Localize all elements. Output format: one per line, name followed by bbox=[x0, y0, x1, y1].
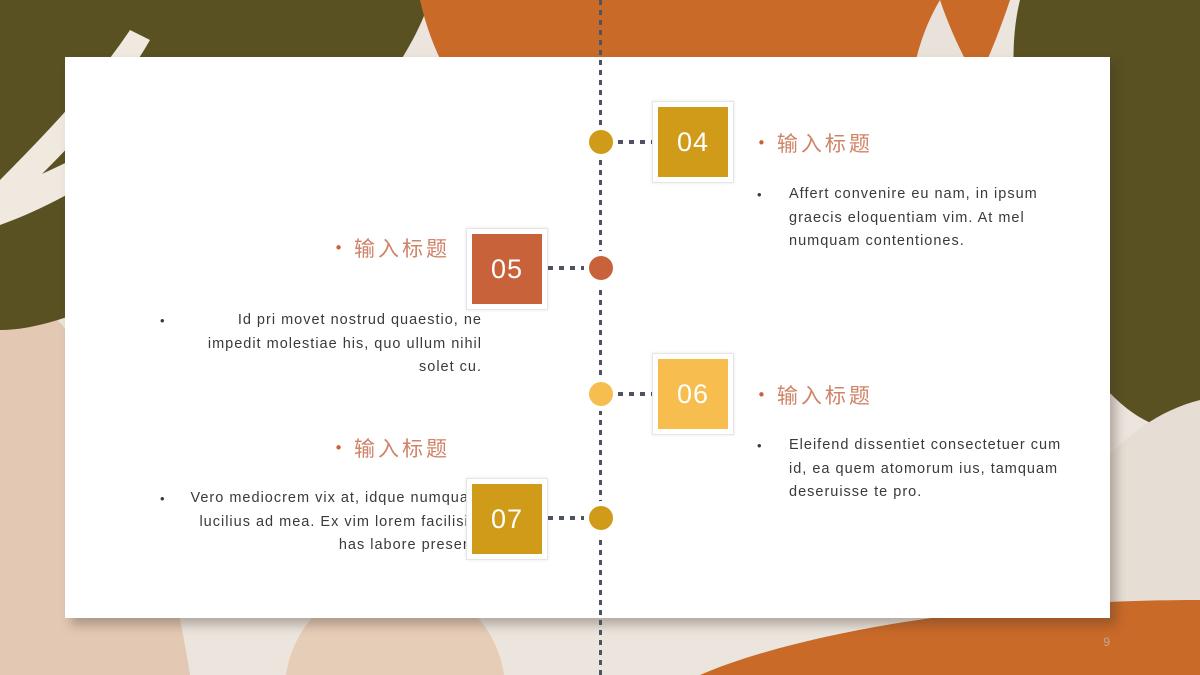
timeline-number-04: 04 bbox=[658, 107, 728, 177]
timeline-number-05: 05 bbox=[472, 234, 542, 304]
timeline-heading-text-04: 输入标题 bbox=[777, 132, 873, 156]
timeline-node-07[interactable] bbox=[584, 501, 618, 535]
body-bullet-icon-04: • bbox=[757, 183, 763, 207]
timeline-body-text-07: Vero mediocrem vix at, idque numquam luc… bbox=[190, 487, 482, 558]
timeline-node-dot-06 bbox=[589, 382, 613, 406]
timeline-heading-text-05: 输入标题 bbox=[354, 237, 450, 261]
heading-bullet-icon-04: • bbox=[757, 134, 769, 152]
body-bullet-icon-06: • bbox=[757, 434, 763, 458]
timeline-number-07: 07 bbox=[472, 484, 542, 554]
timeline-heading-06: •输入标题 bbox=[757, 380, 873, 410]
timeline-node-dot-04 bbox=[589, 130, 613, 154]
timeline-connector-04 bbox=[618, 140, 652, 144]
timeline-body-06: • Eleifend dissentiet consectetuer cum i… bbox=[757, 434, 1079, 505]
page-number: 9 bbox=[1103, 635, 1110, 649]
timeline-body-07: • Vero mediocrem vix at, idque numquam l… bbox=[160, 487, 482, 558]
timeline-heading-text-07: 输入标题 bbox=[354, 437, 450, 461]
timeline-number-box-05[interactable]: 05 bbox=[466, 228, 548, 310]
timeline-connector-07 bbox=[548, 516, 584, 520]
body-bullet-icon-05: • bbox=[160, 309, 166, 333]
presentation-slide: 04 •输入标题 • Affert convenire eu nam, in i… bbox=[0, 0, 1200, 675]
timeline-node-06[interactable] bbox=[584, 377, 618, 411]
timeline-heading-04: •输入标题 bbox=[757, 128, 873, 158]
timeline-node-04[interactable] bbox=[584, 125, 618, 159]
body-bullet-icon-07: • bbox=[160, 487, 166, 511]
timeline-connector-06 bbox=[618, 392, 652, 396]
heading-bullet-icon-05: • bbox=[334, 239, 346, 257]
timeline-node-dot-07 bbox=[589, 506, 613, 530]
timeline-heading-text-06: 输入标题 bbox=[777, 384, 873, 408]
timeline-body-text-04: Affert convenire eu nam, in ipsum graeci… bbox=[789, 183, 1089, 254]
timeline-connector-05 bbox=[548, 266, 584, 270]
timeline-number-06: 06 bbox=[658, 359, 728, 429]
timeline-body-04: • Affert convenire eu nam, in ipsum grae… bbox=[757, 183, 1089, 254]
timeline-number-box-04[interactable]: 04 bbox=[652, 101, 734, 183]
timeline-body-05: • Id pri movet nostrud quaestio, ne impe… bbox=[160, 309, 482, 380]
heading-bullet-icon-07: • bbox=[334, 439, 346, 457]
timeline-body-text-05: Id pri movet nostrud quaestio, ne impedi… bbox=[190, 309, 482, 380]
timeline-number-box-07[interactable]: 07 bbox=[466, 478, 548, 560]
timeline-heading-05: •输入标题 bbox=[150, 233, 450, 263]
timeline-spine bbox=[599, 0, 602, 675]
timeline-body-text-06: Eleifend dissentiet consectetuer cum id,… bbox=[789, 434, 1079, 505]
timeline-heading-07: •输入标题 bbox=[150, 433, 450, 463]
timeline-node-05[interactable] bbox=[584, 251, 618, 285]
timeline-number-box-06[interactable]: 06 bbox=[652, 353, 734, 435]
heading-bullet-icon-06: • bbox=[757, 386, 769, 404]
timeline-node-dot-05 bbox=[589, 256, 613, 280]
